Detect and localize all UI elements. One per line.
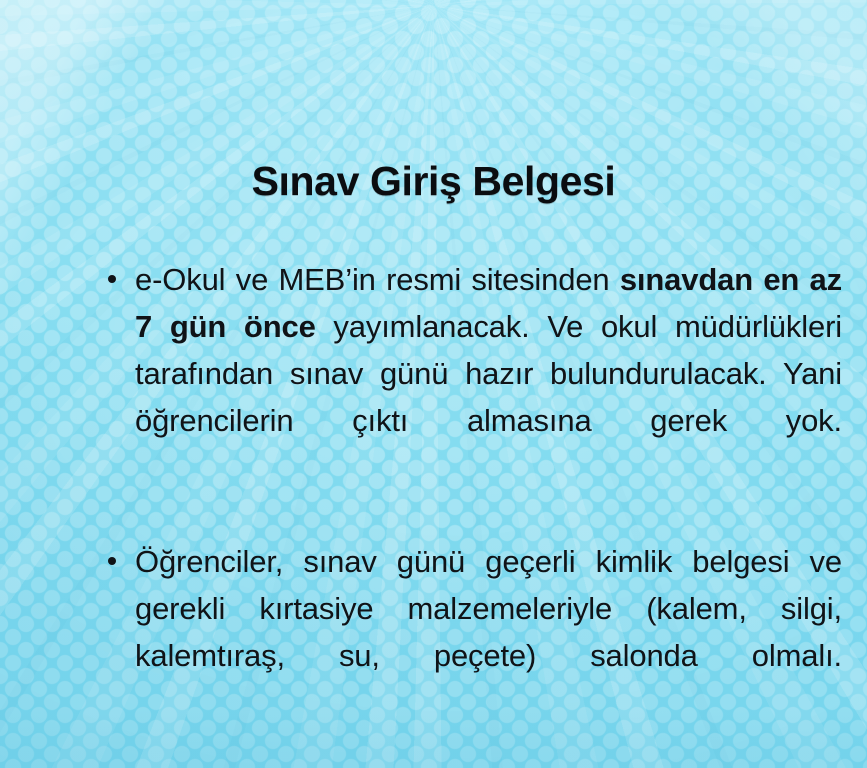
bullet-point-icon [108,275,116,283]
list-item-text: e-Okul ve MEB’in resmi sitesinden sınavd… [135,256,842,491]
list-item-text: Öğrenciler, sınav günü geçerli kimlik be… [135,538,842,726]
bullet-list: e-Okul ve MEB’in resmi sitesinden sınavd… [105,256,842,726]
list-item: Öğrenciler, sınav günü geçerli kimlik be… [105,538,842,726]
slide-content: Sınav Giriş Belgesi e-Okul ve MEB’in res… [0,0,867,768]
list-item: e-Okul ve MEB’in resmi sitesinden sınavd… [105,256,842,491]
slide: Sınav Giriş Belgesi e-Okul ve MEB’in res… [0,0,867,768]
slide-title: Sınav Giriş Belgesi [0,159,867,204]
bullet-point-icon [108,557,116,565]
